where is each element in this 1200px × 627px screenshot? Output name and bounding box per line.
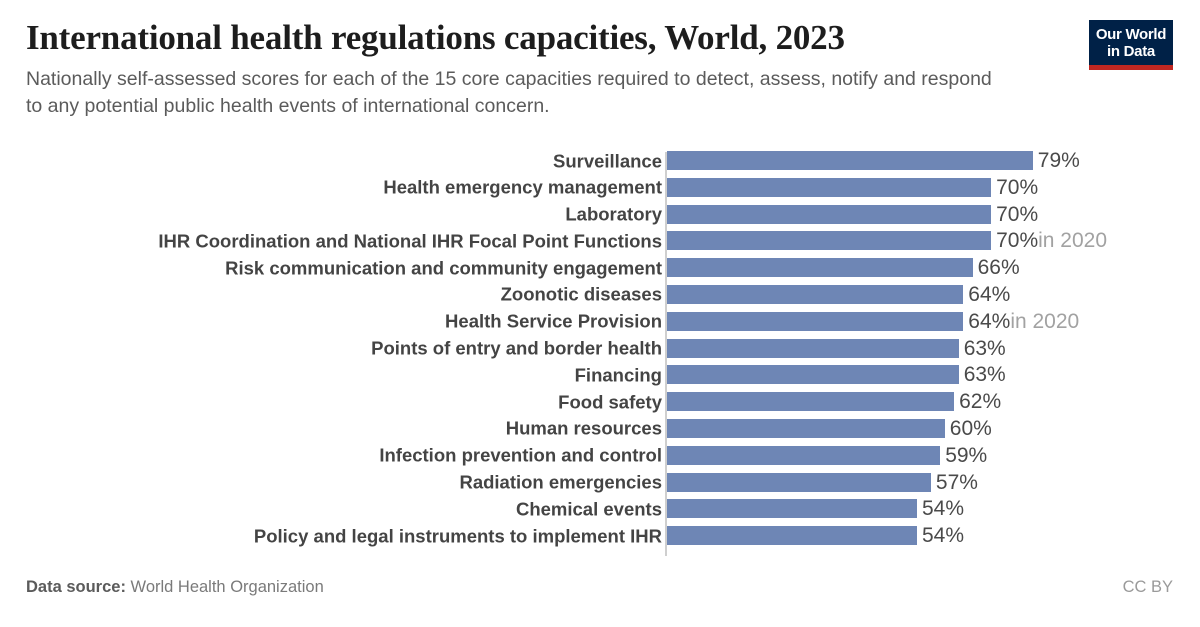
bar[interactable] bbox=[667, 231, 991, 250]
bar-row[interactable]: Points of entry and border health63% bbox=[0, 339, 1200, 358]
bar-value-label: 70% bbox=[996, 204, 1038, 225]
bar-annotation-label: in 2020 bbox=[1010, 311, 1079, 332]
bar-value-label: 70% bbox=[996, 230, 1038, 251]
bar[interactable] bbox=[667, 473, 931, 492]
bar[interactable] bbox=[667, 285, 963, 304]
bar-track: 70% bbox=[667, 178, 1038, 197]
bar-value-label: 64% bbox=[968, 284, 1010, 305]
bar-value-label: 64% bbox=[968, 311, 1010, 332]
bar[interactable] bbox=[667, 339, 959, 358]
data-source: Data source: World Health Organization bbox=[26, 578, 324, 597]
our-world-in-data-logo[interactable]: Our World in Data bbox=[1089, 20, 1173, 70]
bar-row[interactable]: Chemical events54% bbox=[0, 499, 1200, 518]
bar-category-label: Radiation emergencies bbox=[22, 473, 662, 492]
bar-row[interactable]: Risk communication and community engagem… bbox=[0, 258, 1200, 277]
bar-track: 60% bbox=[667, 419, 992, 438]
logo-line-1: Our World bbox=[1089, 26, 1173, 43]
bar-row[interactable]: Radiation emergencies57% bbox=[0, 473, 1200, 492]
bar-track: 54% bbox=[667, 499, 964, 518]
bar-category-label: Chemical events bbox=[22, 499, 662, 518]
bar-row[interactable]: Food safety62% bbox=[0, 392, 1200, 411]
bar-value-label: 63% bbox=[964, 364, 1006, 385]
bar-category-label: Financing bbox=[22, 365, 662, 384]
bar-value-label: 60% bbox=[950, 418, 992, 439]
bar-value-label: 66% bbox=[978, 257, 1020, 278]
bar-category-label: Laboratory bbox=[22, 205, 662, 224]
bar[interactable] bbox=[667, 365, 959, 384]
bar-track: 63% bbox=[667, 339, 1006, 358]
data-source-label: Data source: bbox=[26, 578, 126, 596]
page-title: International health regulations capacit… bbox=[26, 18, 1056, 58]
bar[interactable] bbox=[667, 258, 973, 277]
bar-category-label: IHR Coordination and National IHR Focal … bbox=[22, 231, 662, 250]
bar-track: 59% bbox=[667, 446, 987, 465]
bar-category-label: Health Service Provision bbox=[22, 312, 662, 331]
plot-area: Surveillance79%Health emergency manageme… bbox=[0, 151, 1200, 557]
chart-root: International health regulations capacit… bbox=[0, 0, 1200, 627]
bar-category-label: Infection prevention and control bbox=[22, 446, 662, 465]
bar-category-label: Points of entry and border health bbox=[22, 339, 662, 358]
bar-category-label: Zoonotic diseases bbox=[22, 285, 662, 304]
bar-row[interactable]: IHR Coordination and National IHR Focal … bbox=[0, 231, 1200, 250]
chart-subtitle: Nationally self-assessed scores for each… bbox=[26, 66, 1001, 120]
bar-row[interactable]: Health emergency management70% bbox=[0, 178, 1200, 197]
bar[interactable] bbox=[667, 205, 991, 224]
bar-value-label: 63% bbox=[964, 338, 1006, 359]
bar[interactable] bbox=[667, 312, 963, 331]
bar-annotation-label: in 2020 bbox=[1038, 230, 1107, 251]
bar-row[interactable]: Zoonotic diseases64% bbox=[0, 285, 1200, 304]
license-label: CC BY bbox=[1123, 578, 1173, 597]
bar-track: 64% bbox=[667, 285, 1010, 304]
chart-footer: Data source: World Health Organization C… bbox=[26, 578, 1173, 597]
bar-value-label: 54% bbox=[922, 525, 964, 546]
bar-track: 57% bbox=[667, 473, 978, 492]
bar[interactable] bbox=[667, 526, 917, 545]
bar-category-label: Risk communication and community engagem… bbox=[22, 258, 662, 277]
bar-row[interactable]: Policy and legal instruments to implemen… bbox=[0, 526, 1200, 545]
bar-track: 64%in 2020 bbox=[667, 312, 1079, 331]
bar[interactable] bbox=[667, 392, 954, 411]
bar-row[interactable]: Laboratory70% bbox=[0, 205, 1200, 224]
bar-value-label: 59% bbox=[945, 445, 987, 466]
bar-row[interactable]: Financing63% bbox=[0, 365, 1200, 384]
bar-value-label: 57% bbox=[936, 472, 978, 493]
bar-row[interactable]: Infection prevention and control59% bbox=[0, 446, 1200, 465]
bar-track: 70%in 2020 bbox=[667, 231, 1107, 250]
bar[interactable] bbox=[667, 446, 940, 465]
bar[interactable] bbox=[667, 419, 945, 438]
bar-category-label: Surveillance bbox=[22, 151, 662, 170]
logo-line-2: in Data bbox=[1089, 43, 1173, 60]
bar-category-label: Human resources bbox=[22, 419, 662, 438]
bar[interactable] bbox=[667, 151, 1033, 170]
bar[interactable] bbox=[667, 499, 917, 518]
bar-track: 70% bbox=[667, 205, 1038, 224]
bar-list: Surveillance79%Health emergency manageme… bbox=[0, 151, 1200, 553]
bar-track: 62% bbox=[667, 392, 1001, 411]
bar-value-label: 79% bbox=[1038, 150, 1080, 171]
bar-row[interactable]: Health Service Provision64%in 2020 bbox=[0, 312, 1200, 331]
bar-category-label: Policy and legal instruments to implemen… bbox=[22, 526, 662, 545]
bar-value-label: 54% bbox=[922, 498, 964, 519]
bar-row[interactable]: Surveillance79% bbox=[0, 151, 1200, 170]
bar-track: 54% bbox=[667, 526, 964, 545]
bar-track: 63% bbox=[667, 365, 1006, 384]
bar-value-label: 70% bbox=[996, 177, 1038, 198]
data-source-value: World Health Organization bbox=[126, 578, 324, 596]
bar[interactable] bbox=[667, 178, 991, 197]
bar-row[interactable]: Human resources60% bbox=[0, 419, 1200, 438]
bar-track: 66% bbox=[667, 258, 1020, 277]
bar-value-label: 62% bbox=[959, 391, 1001, 412]
bar-category-label: Food safety bbox=[22, 392, 662, 411]
bar-category-label: Health emergency management bbox=[22, 178, 662, 197]
chart-header: International health regulations capacit… bbox=[26, 18, 1056, 120]
bar-track: 79% bbox=[667, 151, 1080, 170]
